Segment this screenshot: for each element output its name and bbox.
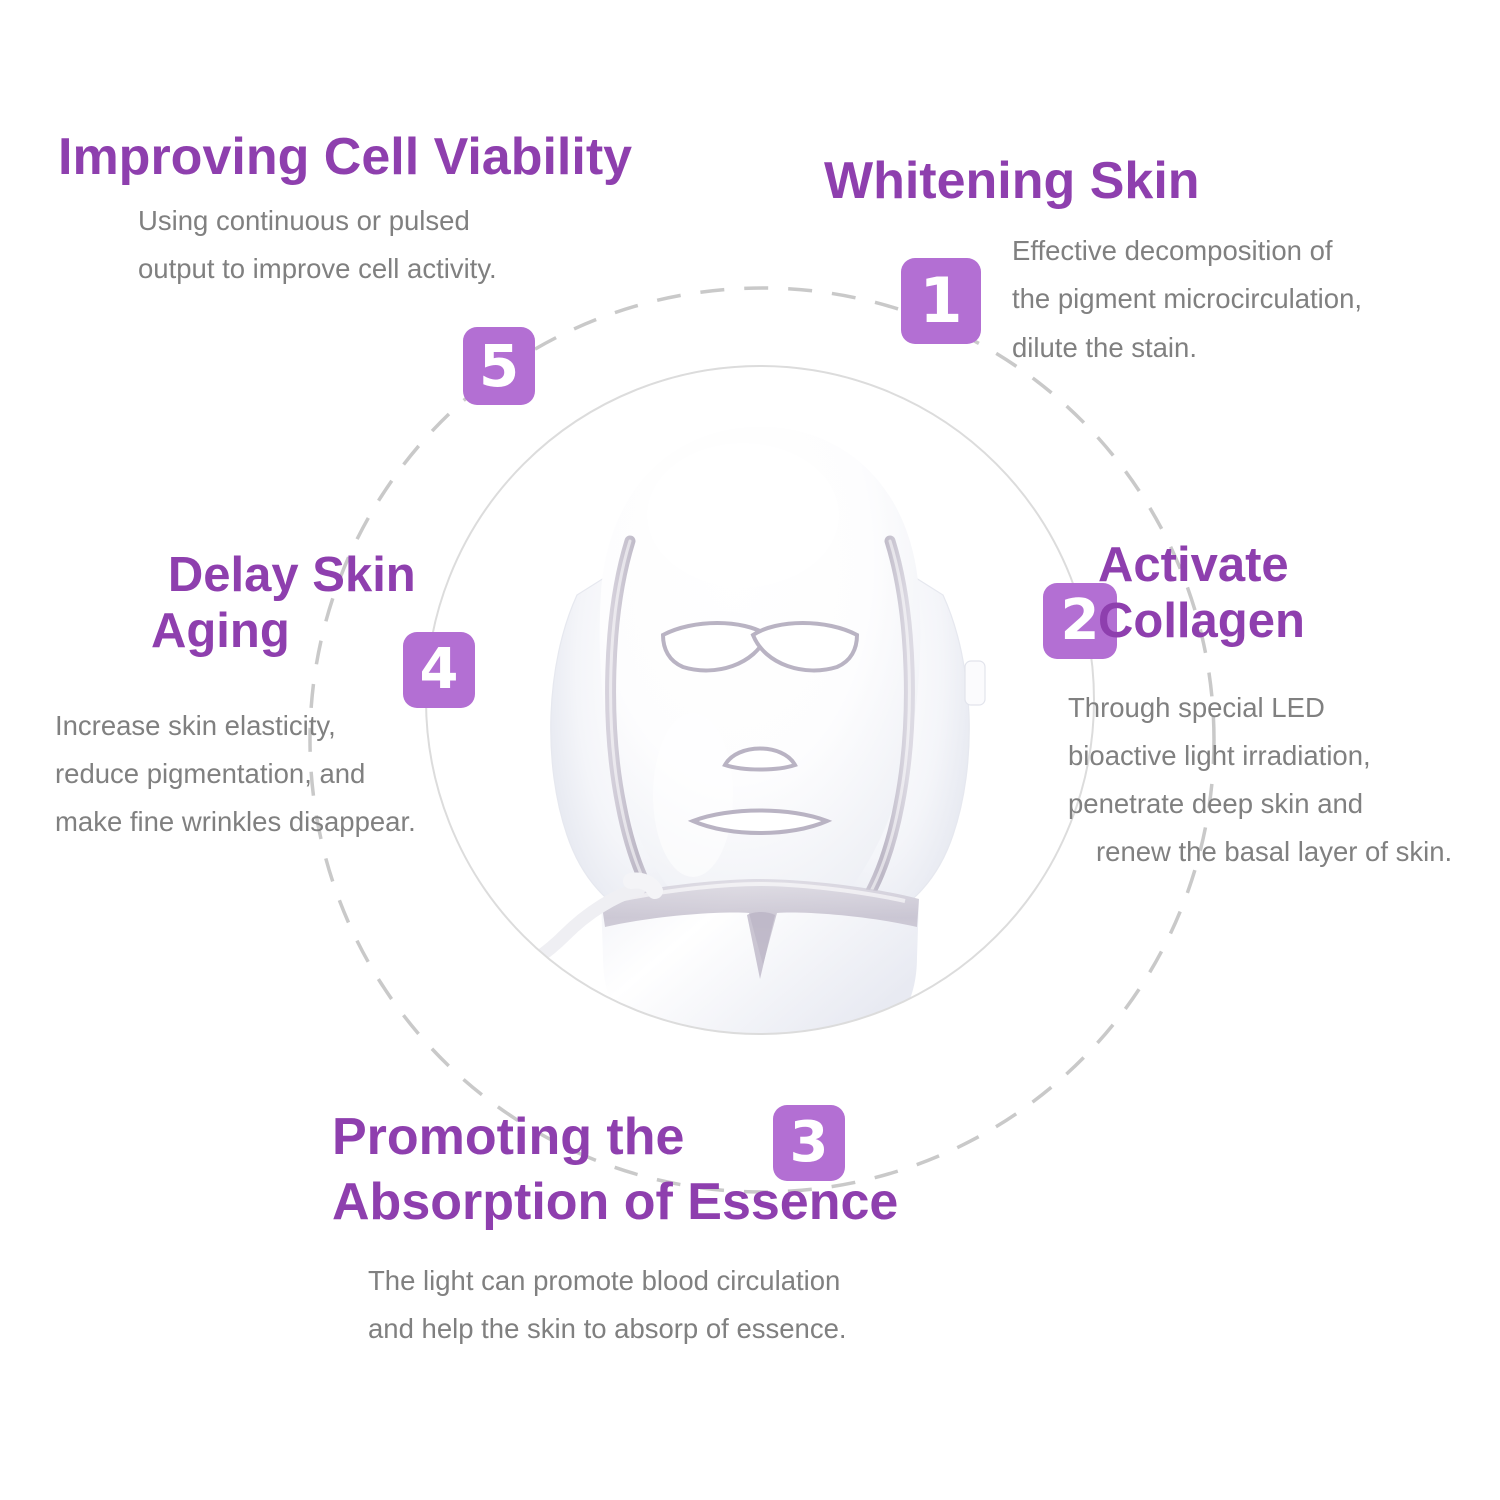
product-photo-led-mask: [425, 365, 1095, 1035]
body-line: The light can promote blood circulation: [368, 1257, 898, 1305]
heading-improving-cell-viability: Improving Cell Viability: [58, 128, 632, 187]
mask-side-button: [965, 661, 985, 705]
heading-promoting-absorption-line1: Promoting the: [332, 1108, 898, 1167]
section-activate-collagen: Activate Collagen Through special LED bi…: [1098, 538, 1452, 876]
mask-cheek-highlight: [653, 713, 733, 877]
body-line: renew the basal layer of skin.: [1096, 828, 1452, 876]
body-whitening-skin: Effective decomposition of the pigment m…: [1012, 227, 1362, 371]
heading-delay-skin-aging-line1: Delay Skin: [150, 548, 416, 604]
body-line: Using continuous or pulsed: [138, 197, 632, 245]
body-activate-collagen: Through special LED bioactive light irra…: [1068, 684, 1452, 877]
heading-promoting-absorption-line2: Absorption of Essence: [332, 1173, 898, 1232]
body-line: make fine wrinkles disappear.: [55, 798, 416, 846]
body-promoting-absorption: The light can promote blood circulation …: [368, 1257, 898, 1353]
body-line: Through special LED: [1068, 684, 1452, 732]
section-improving-cell-viability: Improving Cell Viability Using continuou…: [58, 128, 632, 294]
body-line: reduce pigmentation, and: [55, 750, 416, 798]
section-promoting-absorption-of-essence: Promoting the Absorption of Essence The …: [332, 1108, 898, 1353]
heading-activate-collagen-line2: Collagen: [1098, 594, 1452, 650]
heading-whitening-skin: Whitening Skin: [824, 152, 1362, 211]
body-delay-skin-aging: Increase skin elasticity, reduce pigment…: [55, 702, 416, 846]
body-line: and help the skin to absorp of essence.: [368, 1305, 898, 1353]
body-line: penetrate deep skin and: [1068, 780, 1452, 828]
body-line: output to improve cell activity.: [138, 245, 632, 293]
infographic-page: 1 2 3 4 5 Improving Cell Viability Using…: [0, 0, 1500, 1500]
body-line: dilute the stain.: [1012, 324, 1362, 372]
badge-number-5: 5: [463, 327, 535, 405]
section-delay-skin-aging: Delay Skin Aging Increase skin elasticit…: [150, 548, 416, 846]
body-line: the pigment microcirculation,: [1012, 275, 1362, 323]
body-line: bioactive light irradiation,: [1068, 732, 1452, 780]
mask-forehead-highlight: [647, 443, 839, 587]
heading-delay-skin-aging-line2: Aging: [150, 604, 290, 660]
body-line: Effective decomposition of: [1012, 227, 1362, 275]
body-improving-cell-viability: Using continuous or pulsed output to imp…: [138, 197, 632, 293]
heading-activate-collagen-line1: Activate: [1098, 538, 1452, 594]
body-line: Increase skin elasticity,: [55, 702, 416, 750]
mask-mouth-opening: [693, 811, 827, 834]
section-whitening-skin: Whitening Skin Effective decomposition o…: [824, 152, 1362, 372]
